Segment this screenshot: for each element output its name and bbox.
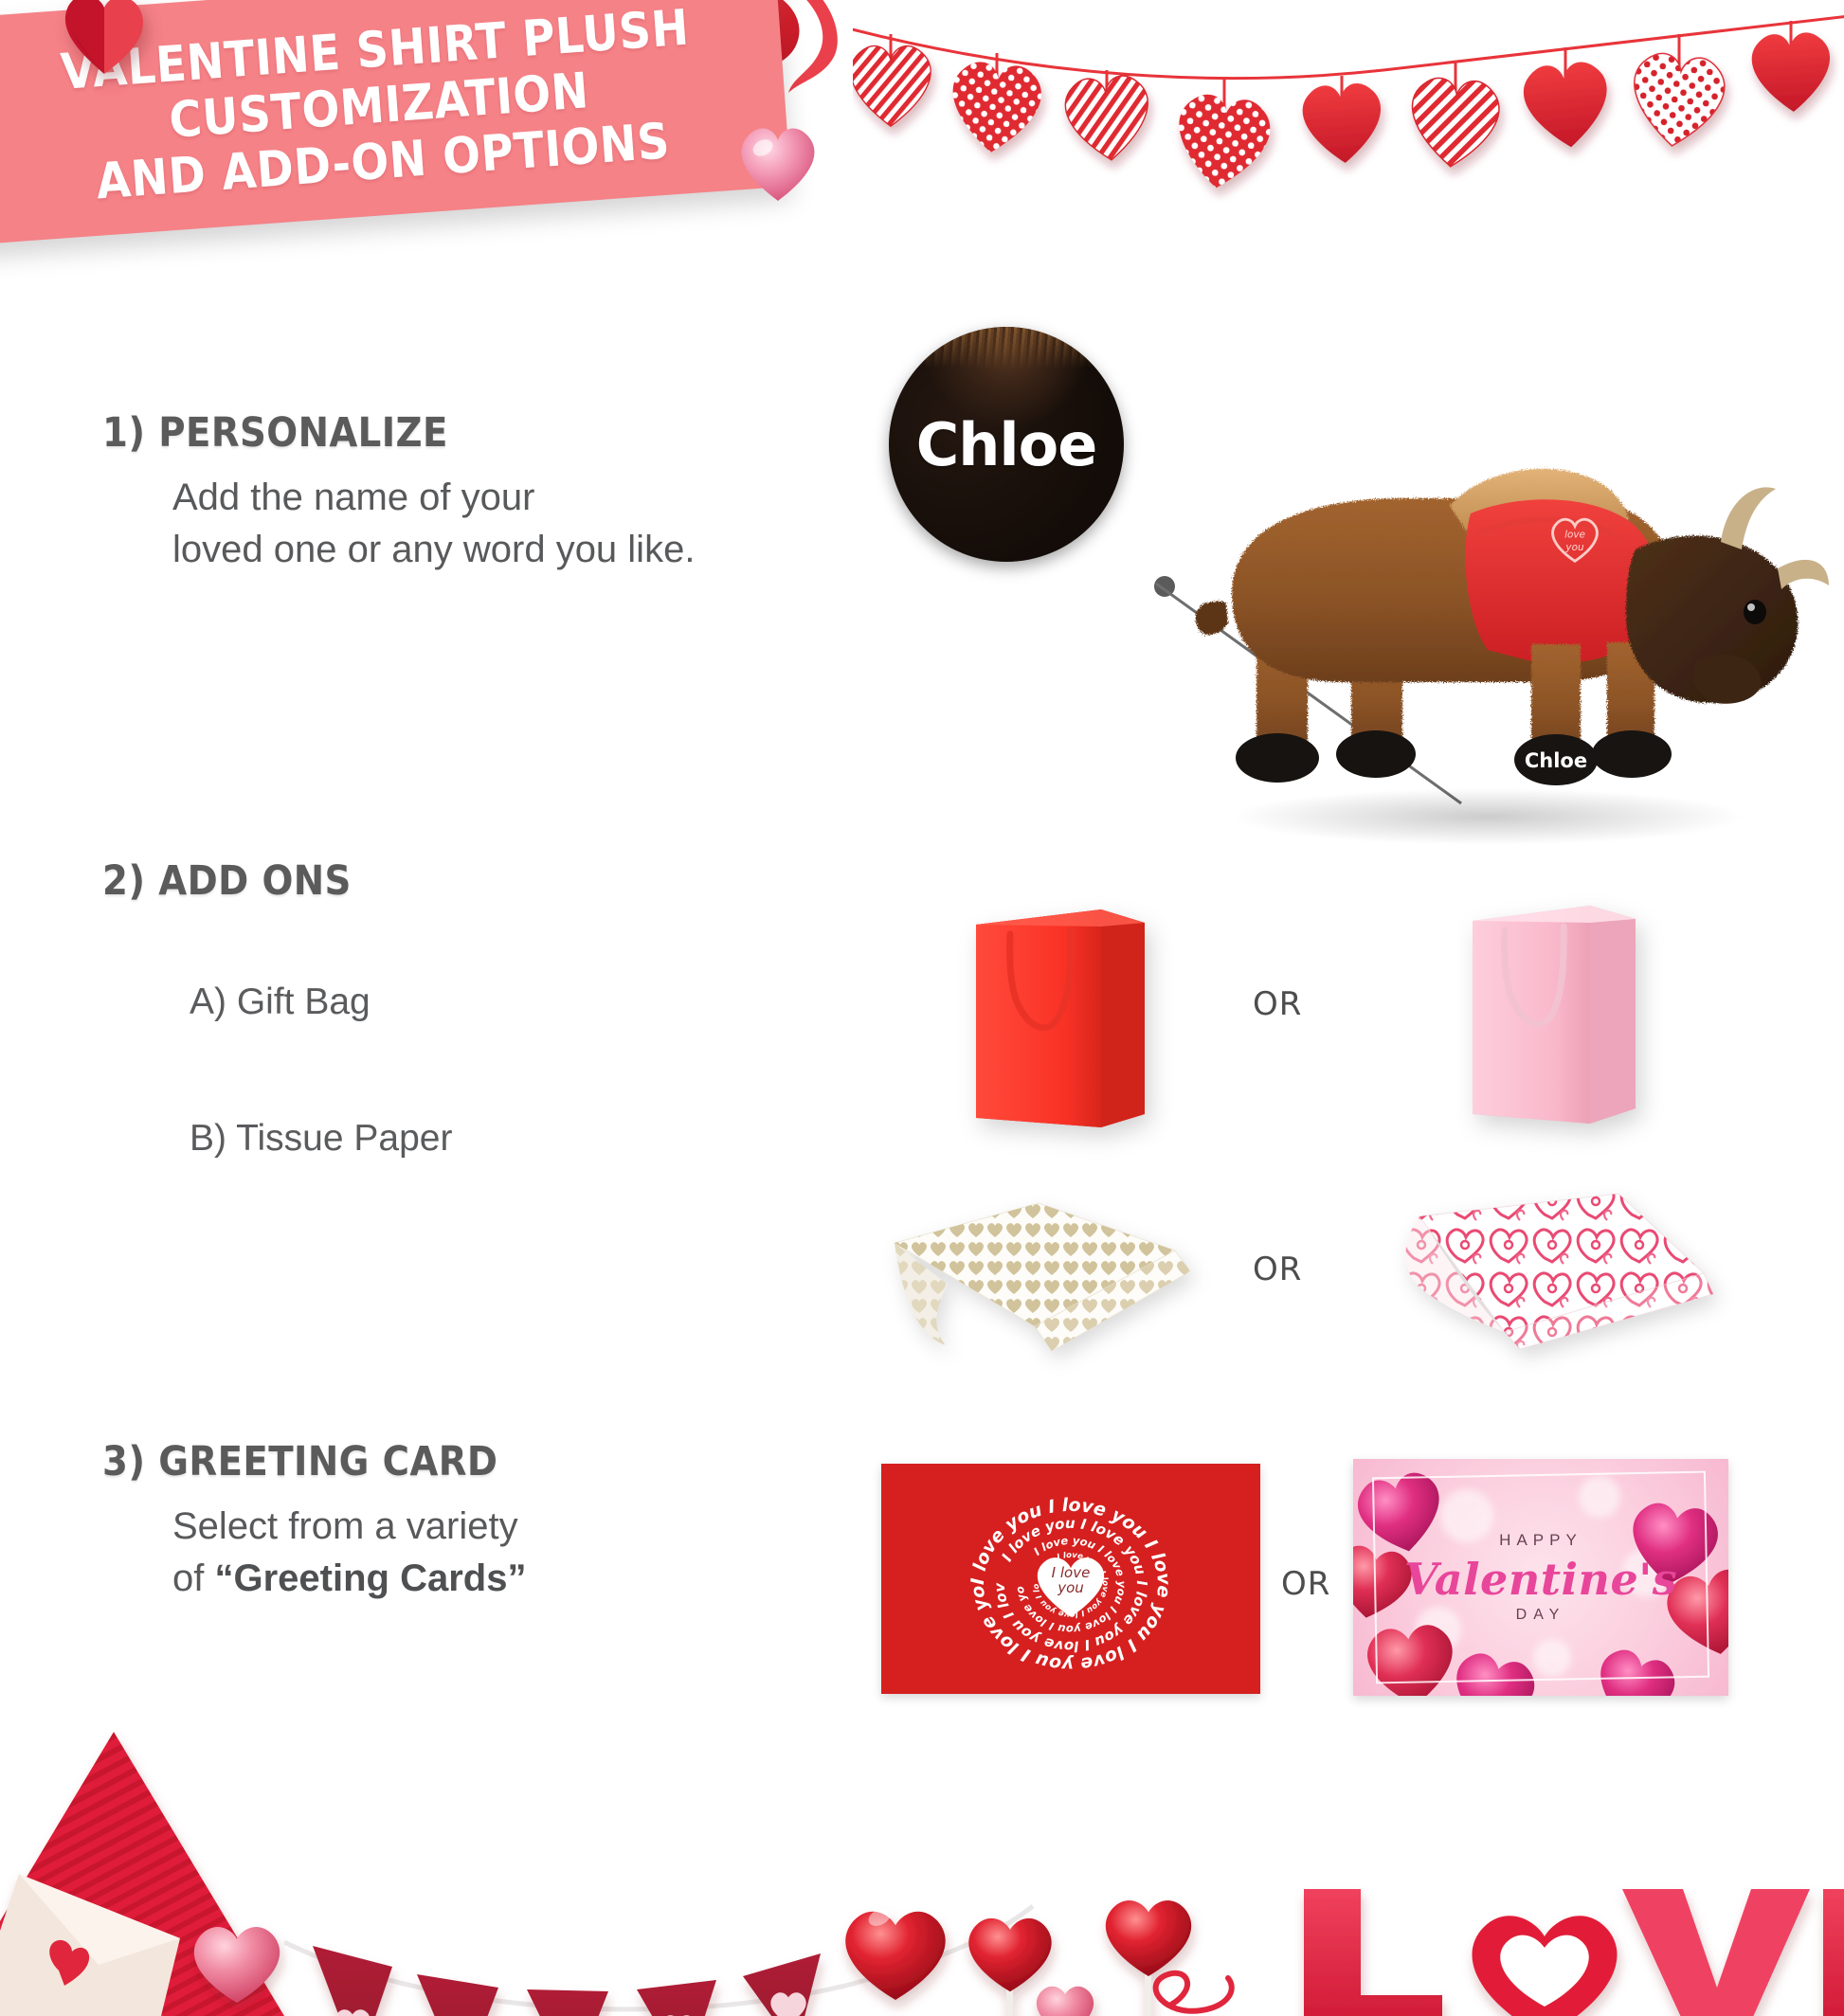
step-1-body: Add the name of your loved one or any wo… <box>172 472 815 576</box>
i-love-you-greeting-card-image: I love you I love you I love you I love … <box>881 1464 1260 1694</box>
addon-option-gift-bag: A) Gift Bag <box>190 981 371 1023</box>
step-personalize: 1) PERSONALIZE Add the name of your love… <box>0 409 815 576</box>
card-line-valentines: Valentine's <box>1353 1554 1728 1605</box>
happy-valentines-day-greeting-card-image: HAPPY Valentine's DAY <box>1353 1459 1728 1696</box>
step-2-title: 2) ADD ONS <box>102 857 815 905</box>
step-1-line-1: Add the name of your <box>172 472 815 524</box>
footer-decoration <box>0 1703 1844 2016</box>
svg-text:Chloe: Chloe <box>1525 749 1587 772</box>
zoom-name-label: Chloe <box>916 410 1097 479</box>
pink-glossy-heart-icon <box>734 123 818 199</box>
step-3-line-1: Select from a variety <box>172 1501 815 1553</box>
step-3-line-2-prefix: of <box>172 1557 214 1599</box>
step-1-line-2: loved one or any word you like. <box>172 524 815 576</box>
infographic-page: VALENTINE SHIRT PLUSH CUSTOMIZATION AND … <box>0 0 1844 2016</box>
step-3-body: Select from a variety of “Greeting Cards… <box>172 1501 815 1605</box>
svg-text:you: you <box>1564 542 1584 553</box>
card-line-day: DAY <box>1353 1607 1728 1624</box>
step-3-title: 3) GREETING CARD <box>102 1438 815 1485</box>
pink-gift-bag-image <box>1457 889 1647 1125</box>
card-text-block: HAPPY Valentine's DAY <box>1353 1531 1728 1624</box>
step-3-quoted-term: “Greeting Cards” <box>214 1557 526 1599</box>
svg-text:you: you <box>1057 1579 1084 1596</box>
addon-option-tissue-paper: B) Tissue Paper <box>190 1118 452 1160</box>
step-greeting-card: 3) GREETING CARD Select from a variety o… <box>0 1438 815 1605</box>
pink-heart-tissue-paper-image <box>1401 1182 1713 1343</box>
heart-garland-decoration <box>853 0 1844 303</box>
addon-b-label: B) Tissue Paper <box>190 1118 452 1159</box>
or-separator-tissue: OR <box>1253 1251 1302 1288</box>
or-separator-greeting-card: OR <box>1281 1565 1330 1603</box>
addon-a-label: A) Gift Bag <box>190 981 371 1022</box>
svg-text:love: love <box>1564 530 1585 541</box>
fur-texture <box>889 327 1124 369</box>
step-1-title: 1) PERSONALIZE <box>102 409 815 457</box>
plush-bison-product-image: love you Chloe <box>1166 407 1829 843</box>
name-zoom-callout: Chloe <box>889 327 1124 562</box>
gold-heart-tissue-paper-image <box>891 1184 1194 1345</box>
card-line-happy: HAPPY <box>1353 1531 1728 1550</box>
step-3-line-2: of “Greeting Cards” <box>172 1553 815 1605</box>
or-separator-gift-bag: OR <box>1253 985 1302 1023</box>
origami-heart-icon <box>59 0 150 89</box>
step-add-ons: 2) ADD ONS <box>0 857 815 905</box>
red-gift-bag-image <box>959 891 1158 1127</box>
